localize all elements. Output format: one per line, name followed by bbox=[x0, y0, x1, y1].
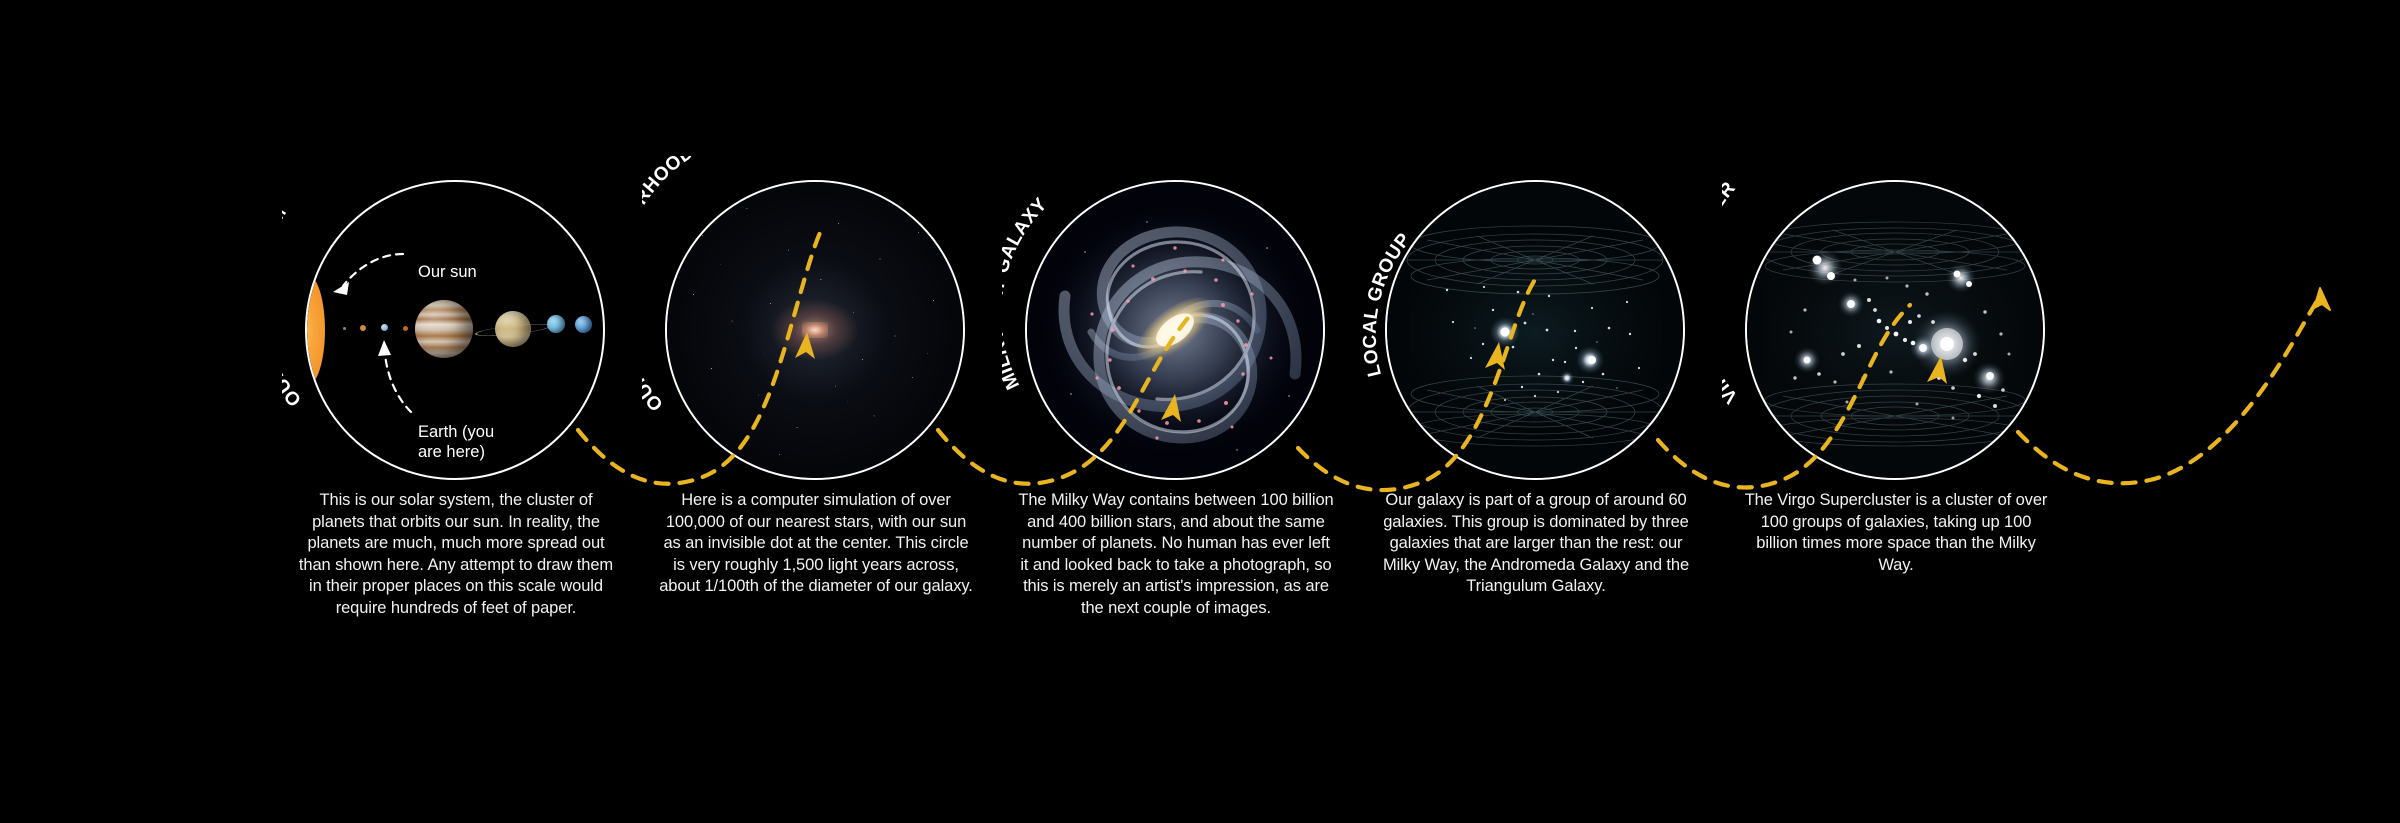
panel-solar-system[interactable]: OUR SOLAR SYSTEM bbox=[290, 170, 620, 500]
panel-title-virgo-supercluster: VIRGO SUPERCLUSTER bbox=[1722, 178, 1742, 407]
infographic-canvas: OUR SOLAR SYSTEM bbox=[0, 0, 2400, 823]
annotation-our-sun: Our sun bbox=[418, 242, 477, 282]
body-earth bbox=[381, 324, 388, 331]
caption-local-group: Our galaxy is part of a group of around … bbox=[1378, 490, 1694, 598]
panel-milky-way-galaxy[interactable]: MILKY WAY GALAXY bbox=[1010, 170, 1340, 500]
panel-local-group[interactable]: LOCAL GROUP bbox=[1370, 170, 1700, 500]
body-mars bbox=[403, 326, 408, 331]
scene-circle-solar-neighborhood bbox=[665, 180, 965, 480]
circle-wrap-solar-neighborhood: OUR SOLAR NEIGHBORHOOD bbox=[650, 170, 980, 500]
arrowhead-our-sun bbox=[333, 282, 349, 295]
local-group-render bbox=[1387, 182, 1683, 478]
body-venus bbox=[360, 325, 366, 331]
circle-wrap-local-group: LOCAL GROUP bbox=[1370, 170, 1700, 500]
scene-circle-local-group bbox=[1385, 180, 1685, 480]
caption-solar-system: This is our solar system, the cluster of… bbox=[298, 490, 614, 619]
solar-core-bright bbox=[802, 322, 828, 338]
caption-solar-neighborhood: Here is a computer simulation of over 10… bbox=[658, 490, 974, 598]
panel-title-solar-system: OUR SOLAR SYSTEM bbox=[282, 203, 306, 410]
virgo-render bbox=[1747, 182, 2043, 478]
body-uranus bbox=[547, 315, 565, 333]
scene-inner-solar-neighborhood bbox=[667, 182, 963, 478]
scene-inner-milky-way bbox=[1027, 182, 1323, 478]
body-neptune bbox=[575, 316, 592, 333]
circle-wrap-milky-way: MILKY WAY GALAXY bbox=[1010, 170, 1340, 500]
scene-inner-local-group bbox=[1387, 182, 1683, 478]
circle-wrap-virgo: VIRGO SUPERCLUSTER bbox=[1730, 170, 2060, 500]
body-mercury bbox=[343, 327, 346, 330]
scene-circle-virgo bbox=[1745, 180, 2045, 480]
annotation-earth-label: Earth (you are here) bbox=[418, 423, 494, 461]
leader-earth bbox=[385, 354, 411, 412]
annotation-earth-you-are-here: Earth (you are here) bbox=[418, 402, 494, 462]
leader-our-sun bbox=[343, 254, 403, 286]
body-saturn-group bbox=[483, 308, 541, 350]
panel-solar-neighborhood[interactable]: OUR SOLAR NEIGHBORHOOD Here is a compute bbox=[650, 170, 980, 500]
body-jupiter bbox=[415, 300, 473, 358]
trail-end-arrowhead bbox=[2314, 288, 2330, 310]
panel-virgo-supercluster[interactable]: VIRGO SUPERCLUSTER bbox=[1730, 170, 2060, 500]
annotation-our-sun-label: Our sun bbox=[418, 263, 477, 281]
arrowhead-earth bbox=[378, 340, 391, 356]
trail-segment-5-end bbox=[2018, 296, 2320, 483]
scene-circle-milky-way bbox=[1025, 180, 1325, 480]
body-sun bbox=[307, 274, 325, 386]
circle-wrap-solar-system: OUR SOLAR SYSTEM bbox=[290, 170, 620, 500]
scene-inner-virgo bbox=[1747, 182, 2043, 478]
caption-virgo-supercluster: The Virgo Supercluster is a cluster of o… bbox=[1738, 490, 2054, 576]
caption-milky-way-galaxy: The Milky Way contains between 100 billi… bbox=[1018, 490, 1334, 619]
galaxy-render bbox=[1027, 182, 1323, 478]
